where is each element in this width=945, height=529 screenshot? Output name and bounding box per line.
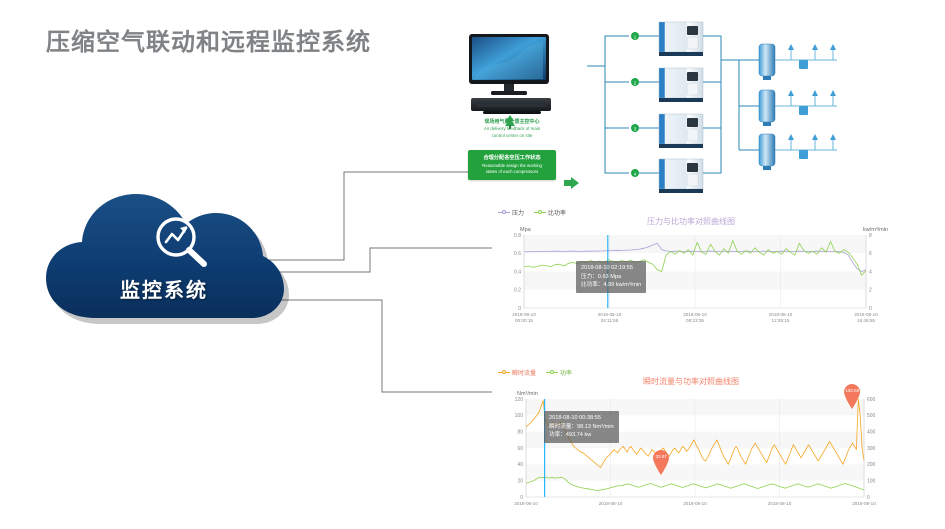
slide-canvas: 压缩空气联动和远程监控系统 监控系统 [0, 0, 945, 529]
svg-text:2018-08-10: 2018-08-10 [683, 312, 707, 317]
pin-label: 33.87 [651, 454, 671, 459]
chart-pin-marker[interactable]: 33.87 [651, 449, 671, 475]
svg-text:2018-08-10: 2018-08-10 [769, 312, 793, 317]
monitoring-cloud[interactable]: 监控系统 [38, 186, 290, 332]
svg-text:200: 200 [867, 462, 876, 468]
svg-text:40: 40 [517, 462, 523, 468]
svg-text:400: 400 [867, 429, 876, 435]
right-arrow-icon [564, 176, 580, 190]
svg-text:2018-08-10: 2018-08-10 [852, 501, 876, 506]
svg-text:0.6: 0.6 [514, 251, 521, 257]
svg-text:0.4: 0.4 [514, 269, 521, 275]
svg-text:0: 0 [520, 495, 523, 501]
svg-text:4: 4 [869, 269, 872, 275]
pressure-power-chart[interactable]: 压力 比功率 压力与比功率对照曲线图 Mpa kw/m³/min 0.80.60… [492, 205, 890, 330]
svg-text:2018-08-10: 2018-08-10 [599, 501, 623, 506]
control-center-caption: 现场用气量反馈主控中心 Air delivery feedback of mai… [462, 119, 562, 139]
assign-status-box: 合理分配各空压工作状态 Reasonable assign the workin… [468, 150, 556, 180]
pin-icon [842, 383, 862, 409]
svg-text:100: 100 [515, 413, 524, 419]
chart2-plot: 12010080604020060050040030020010002018-0… [492, 365, 890, 525]
svg-text:6: 6 [869, 251, 872, 257]
desktop-computer-icon [463, 30, 563, 125]
svg-text:00:00:15: 00:00:15 [515, 318, 533, 323]
svg-text:0: 0 [869, 306, 872, 312]
svg-text:04:11:55: 04:11:55 [601, 318, 619, 323]
flow-power-chart[interactable]: 瞬时流量 功率 瞬时流量与功率对照曲线图 Nm³/min 12010080604… [492, 365, 890, 525]
svg-text:0.2: 0.2 [514, 288, 521, 294]
svg-text:60: 60 [517, 446, 523, 452]
chart1-plot: 0.80.60.40.20864202018-08-1000:00:152018… [492, 205, 890, 330]
chart2-tooltip: 2018-08-10 00:38:55 瞬时流量：98.13 Nm³/min 功… [544, 411, 619, 443]
svg-text:2: 2 [869, 288, 872, 294]
svg-text:80: 80 [517, 429, 523, 435]
magnifier-chart-icon [150, 214, 212, 270]
svg-text:2018-08-10: 2018-08-10 [512, 312, 536, 317]
svg-text:0: 0 [518, 306, 521, 312]
svg-text:08:23:35: 08:23:35 [686, 318, 704, 323]
svg-text:2018-08-10: 2018-08-10 [768, 501, 792, 506]
compressor-network: 1 2 3 4 [587, 18, 907, 203]
svg-text:0.8: 0.8 [514, 233, 521, 239]
svg-text:120: 120 [515, 397, 524, 403]
pin-icon [651, 449, 671, 475]
chart-pin-marker[interactable]: 130.55 [842, 383, 862, 409]
svg-text:600: 600 [867, 397, 876, 403]
svg-text:500: 500 [867, 413, 876, 419]
svg-text:2018-08-10: 2018-08-10 [683, 501, 707, 506]
svg-text:20: 20 [517, 478, 523, 484]
svg-text:16:46:55: 16:46:55 [857, 318, 875, 323]
svg-text:12:35:15: 12:35:15 [772, 318, 790, 323]
svg-text:2018-08-10: 2018-08-10 [514, 501, 538, 506]
page-title: 压缩空气联动和远程监控系统 [46, 22, 371, 57]
pin-label: 130.55 [842, 388, 862, 393]
svg-text:2018-08-10: 2018-08-10 [854, 312, 878, 317]
svg-text:8: 8 [869, 233, 872, 239]
svg-text:300: 300 [867, 446, 876, 452]
svg-text:2018-08-10: 2018-08-10 [598, 312, 622, 317]
chart1-tooltip: 2018-08-10 02:19:55 压力：0.63 Mpa 比功率：4.99… [576, 261, 646, 293]
svg-text:0: 0 [867, 495, 870, 501]
svg-text:100: 100 [867, 478, 876, 484]
